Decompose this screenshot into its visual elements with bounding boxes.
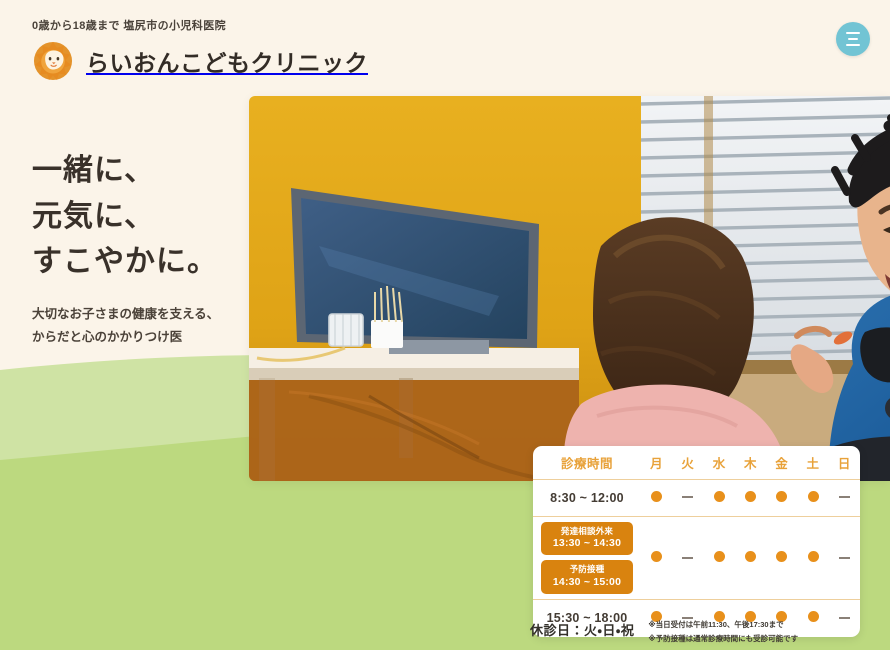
schedule-note-2: ※予防接種は通常診療時間にも受診可能です	[648, 632, 798, 646]
schedule-footer-notes: 休診日：火・日・祝 ※当日受付は午前11:30、午後17:30まで ※予防接種は…	[530, 618, 798, 646]
open-dot-icon	[745, 491, 756, 502]
header-tagline: 0歳から18歳まで 塩尻市の小児科医院	[32, 17, 226, 33]
day-header-thu: 木	[735, 446, 766, 479]
schedule-cell-morning-mon	[641, 479, 672, 516]
hero-photo-illustration	[249, 96, 890, 481]
schedule-cell-special-tue	[672, 516, 703, 600]
open-dot-icon	[808, 611, 819, 622]
day-header-sat: 土	[797, 446, 828, 479]
badge-vaccination[interactable]: 予防接種 14:30 ~ 15:00	[541, 560, 633, 594]
schedule-table: 診療時間 月 火 水 木 金 土 日 8:30 ~ 12:00	[533, 446, 860, 637]
schedule-cell-morning-sun	[829, 479, 860, 516]
schedule-cell-special-sat	[797, 516, 828, 600]
hero-photo	[249, 96, 890, 481]
schedule-cell-morning-sat	[797, 479, 828, 516]
schedule-cell-afternoon-sat	[797, 600, 828, 637]
schedule-cell-morning-fri	[766, 479, 797, 516]
schedule-cell-special-sun	[829, 516, 860, 600]
schedule-note-1: ※当日受付は午前11:30、午後17:30まで	[648, 618, 798, 632]
open-dot-icon	[651, 491, 662, 502]
badge-development-consultation[interactable]: 発達相談外来 13:30 ~ 14:30	[541, 522, 633, 556]
schedule-cell-afternoon-sun	[829, 600, 860, 637]
schedule-time-header: 診療時間	[533, 446, 641, 479]
closed-dash-icon	[682, 557, 693, 559]
open-dot-icon	[745, 551, 756, 562]
schedule-row-morning: 8:30 ~ 12:00	[533, 479, 860, 516]
day-header-fri: 金	[766, 446, 797, 479]
hero-subtext-1: 大切なお子さまの健康を支える、	[32, 303, 219, 326]
hero-headline-2: 元気に、	[32, 194, 219, 240]
open-dot-icon	[714, 551, 725, 562]
schedule-cell-special-wed	[704, 516, 735, 600]
open-dot-icon	[776, 551, 787, 562]
page-root: 0歳から18歳まで 塩尻市の小児科医院 らいおんこどもクリニック	[0, 0, 890, 650]
open-dot-icon	[808, 551, 819, 562]
schedule-table-body: 8:30 ~ 12:00 発達相談外来 13:30 ~ 14:30	[533, 479, 860, 637]
closed-dash-icon	[839, 617, 850, 619]
open-dot-icon	[714, 491, 725, 502]
schedule-time-morning: 8:30 ~ 12:00	[533, 479, 641, 516]
menu-bar-middle	[848, 38, 858, 40]
site-logo-link[interactable]: らいおんこどもクリニック	[32, 40, 368, 82]
day-header-tue: 火	[672, 446, 703, 479]
clinic-name: らいおんこどもクリニック	[86, 44, 368, 78]
badge-vaccination-title: 予防接種	[543, 564, 631, 575]
day-header-sun: 日	[829, 446, 860, 479]
closed-dash-icon	[839, 557, 850, 559]
hero-subtext-2: からだと心のかかりつけ医	[32, 326, 219, 349]
closed-dash-icon	[839, 496, 850, 498]
lion-face-icon	[32, 40, 74, 82]
open-dot-icon	[808, 491, 819, 502]
open-dot-icon	[651, 551, 662, 562]
schedule-special-badges: 発達相談外来 13:30 ~ 14:30 予防接種 14:30 ~ 15:00	[533, 516, 641, 600]
schedule-row-special: 発達相談外来 13:30 ~ 14:30 予防接種 14:30 ~ 15:00	[533, 516, 860, 600]
hero-headline-1: 一緒に、	[32, 148, 219, 194]
schedule-table-head: 診療時間 月 火 水 木 金 土 日	[533, 446, 860, 479]
schedule-cell-special-mon	[641, 516, 672, 600]
hero-headline-3: すこやかに。	[32, 239, 219, 285]
schedule-card: 診療時間 月 火 水 木 金 土 日 8:30 ~ 12:00	[533, 446, 860, 637]
hamburger-menu-icon[interactable]	[836, 22, 870, 56]
menu-bar-top	[846, 32, 860, 34]
site-header: 0歳から18歳まで 塩尻市の小児科医院 らいおんこどもクリニック	[0, 0, 890, 92]
schedule-header-row: 診療時間 月 火 水 木 金 土 日	[533, 446, 860, 479]
open-dot-icon	[776, 491, 787, 502]
badge-development-title: 発達相談外来	[543, 526, 631, 537]
schedule-cell-morning-tue	[672, 479, 703, 516]
day-header-wed: 水	[704, 446, 735, 479]
schedule-cell-special-fri	[766, 516, 797, 600]
closed-dash-icon	[682, 496, 693, 498]
badge-development-time: 13:30 ~ 14:30	[543, 537, 631, 550]
closed-days-label: 休診日：火・日・祝	[530, 618, 634, 639]
schedule-note-list: ※当日受付は午前11:30、午後17:30まで ※予防接種は通常診療時間にも受診…	[648, 618, 798, 646]
badge-vaccination-time: 14:30 ~ 15:00	[543, 576, 631, 589]
schedule-cell-morning-thu	[735, 479, 766, 516]
schedule-cell-special-thu	[735, 516, 766, 600]
hero-copy: 一緒に、 元気に、 すこやかに。 大切なお子さまの健康を支える、 からだと心のか…	[32, 148, 219, 349]
schedule-cell-morning-wed	[704, 479, 735, 516]
day-header-mon: 月	[641, 446, 672, 479]
menu-bar-bottom	[846, 44, 860, 46]
